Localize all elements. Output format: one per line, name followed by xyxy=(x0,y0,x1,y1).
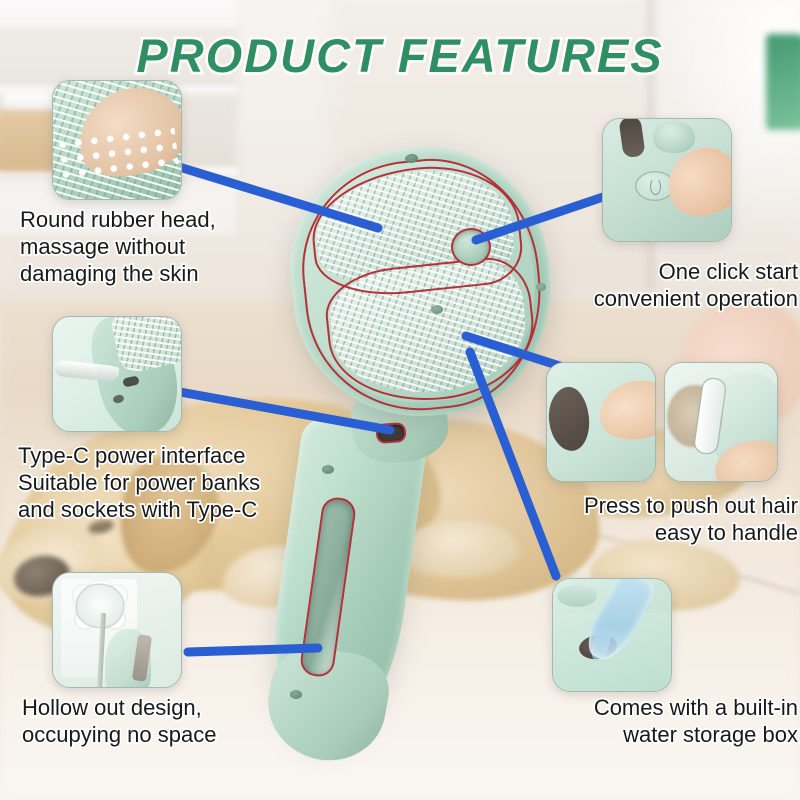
feature-caption-press-push-out-hair: Press to push out hair easy to handle xyxy=(512,492,798,546)
brush-top-knob-icon xyxy=(653,121,695,153)
feature-caption-water-storage-box: Comes with a built-in water storage box xyxy=(528,694,798,748)
feature-caption-type-c-power: Type-C power interface Suitable for powe… xyxy=(18,442,348,523)
water-cap-icon xyxy=(557,585,597,607)
feature-caption-hollow-out-design: Hollow out design, occupying no space xyxy=(22,694,312,748)
head-vent-hole-mid xyxy=(431,305,443,314)
feature-caption-round-rubber-head: Round rubber head, massage without damag… xyxy=(20,206,290,287)
usb-c-plug-icon xyxy=(96,365,119,378)
thumbnail-push-out-hair[interactable] xyxy=(664,362,778,482)
infographic-canvas: PRODUCT FEATURES Round rubber head, mass… xyxy=(0,0,800,800)
thumbnail-press-release-button[interactable] xyxy=(546,362,656,482)
center-release-button xyxy=(451,228,491,266)
thumbnail-type-c-power[interactable] xyxy=(52,316,182,432)
page-title: PRODUCT FEATURES xyxy=(0,28,800,83)
thumbnail-one-click-start[interactable] xyxy=(602,118,732,242)
feature-caption-one-click-start: One click start convenient operation xyxy=(520,258,798,312)
thumbnail-hollow-out-design[interactable] xyxy=(52,572,182,688)
thumbnail-round-rubber-head[interactable] xyxy=(52,80,182,200)
usb-c-port xyxy=(375,422,406,444)
thumbnail-water-storage-box[interactable] xyxy=(552,578,672,692)
